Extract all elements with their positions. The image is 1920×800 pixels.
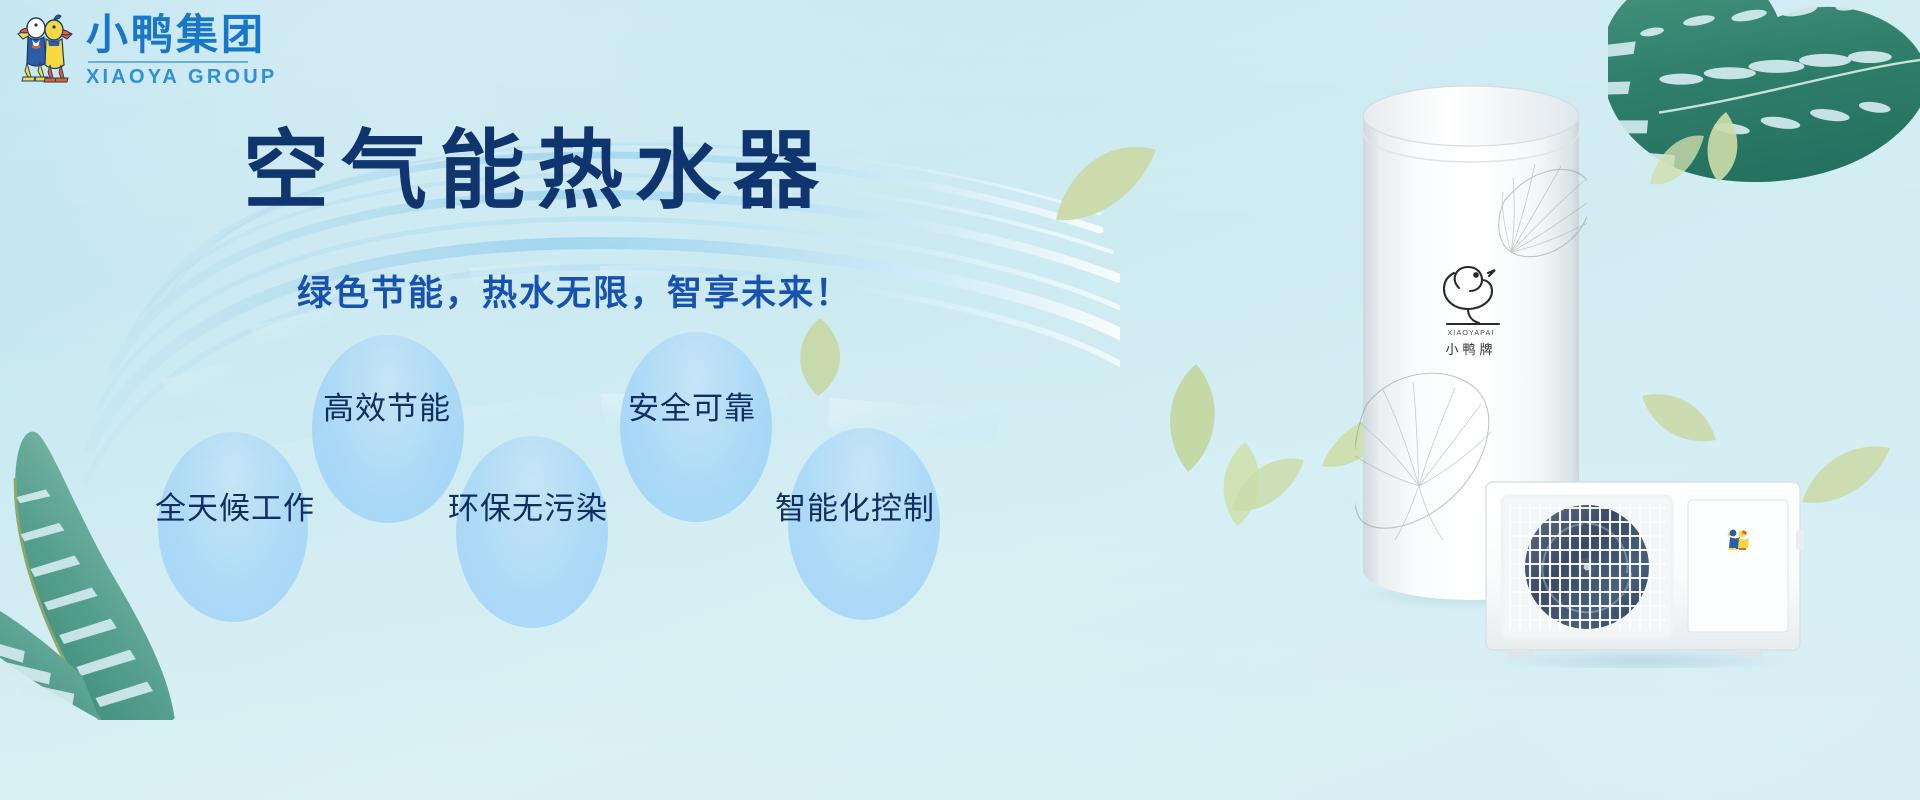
- feature-label-smart-control: 智能化控制: [775, 494, 935, 525]
- floating-leaf-icon: [1160, 362, 1226, 474]
- page-title: 空气能热水器: [243, 128, 831, 214]
- duck-mascot-badge-icon: [1724, 526, 1750, 552]
- feature-bubble: [158, 432, 308, 622]
- feature-label-high-efficiency: 高效节能: [323, 394, 451, 425]
- brand-divider: [88, 61, 248, 63]
- floating-leaf-icon: [1048, 128, 1164, 228]
- duck-mascots-icon: [14, 8, 76, 88]
- floating-leaf-icon: [1228, 450, 1308, 520]
- brand-name-en: XIAOYA GROUP: [86, 67, 277, 87]
- brand-logo[interactable]: 小鸭集团 XIAOYA GROUP: [14, 8, 277, 88]
- feature-label-safe-reliable: 安全可靠: [628, 394, 756, 425]
- brand-logo-text: 小鸭集团 XIAOYA GROUP: [86, 10, 277, 87]
- feature-label-eco-friendly: 环保无污染: [448, 494, 608, 525]
- heat-pump-outdoor-unit: [1480, 478, 1806, 668]
- feature-label-all-weather: 全天候工作: [155, 494, 315, 525]
- tank-brand-cn: 小鸭牌: [1445, 342, 1496, 358]
- feature-bubble: [312, 335, 464, 523]
- promo-banner: 小鸭集团 XIAOYA GROUP 空气能热水器 绿色节能，热水无限，智享未来！…: [0, 0, 1920, 800]
- background-wash: [0, 0, 1920, 800]
- floating-leaf-icon: [1700, 110, 1744, 184]
- monstera-leaf-icon: [1608, 0, 1920, 246]
- tank-brand-en: XIAOYAPAI: [1447, 330, 1494, 337]
- page-subtitle: 绿色节能，热水无限，智享未来！: [297, 277, 852, 312]
- floating-leaf-icon: [790, 316, 850, 398]
- floating-leaf-icon: [1798, 438, 1894, 510]
- feature-bubble: [620, 332, 772, 522]
- floating-leaf-icon: [1640, 386, 1718, 450]
- floating-leaf-icon: [1215, 440, 1267, 528]
- feature-bubble: [456, 436, 608, 628]
- brand-name-cn: 小鸭集团: [86, 14, 277, 56]
- floating-leaf-icon: [1648, 130, 1706, 190]
